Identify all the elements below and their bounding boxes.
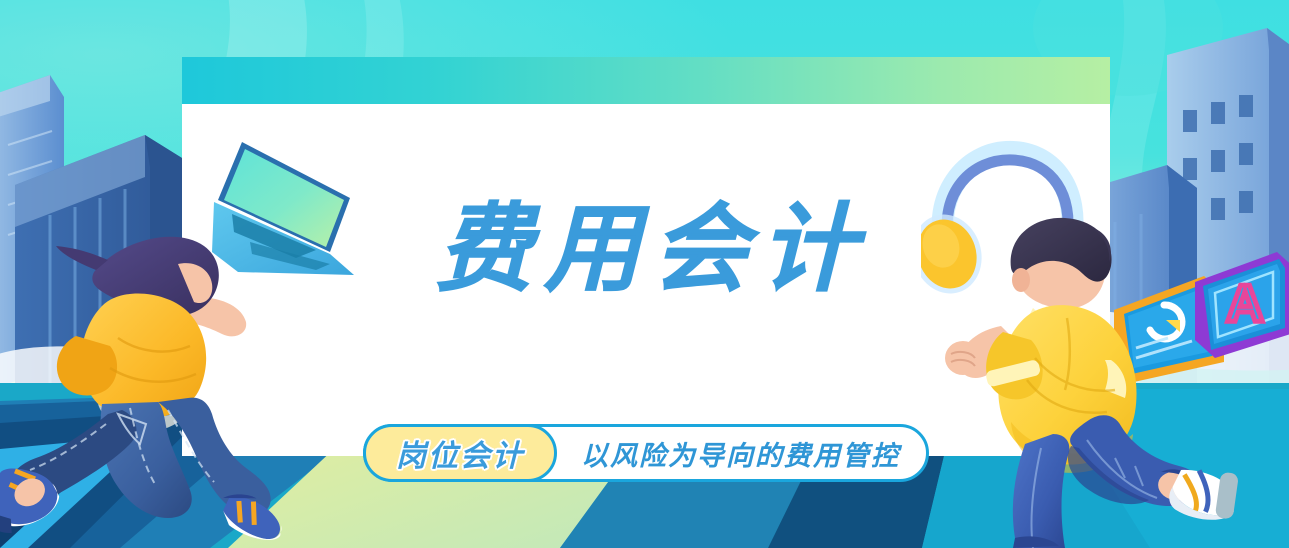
subtitle-pill: 岗位会计 以风险为导向的费用管控: [363, 424, 929, 482]
status-badge: 岗位会计: [363, 424, 557, 482]
subtitle-text: 以风险为导向的费用管控: [557, 434, 900, 473]
running-woman: [0, 218, 320, 548]
running-man: [929, 208, 1259, 548]
course-banner: A: [0, 0, 1289, 548]
card-top-gradient-bar: [182, 57, 1110, 104]
